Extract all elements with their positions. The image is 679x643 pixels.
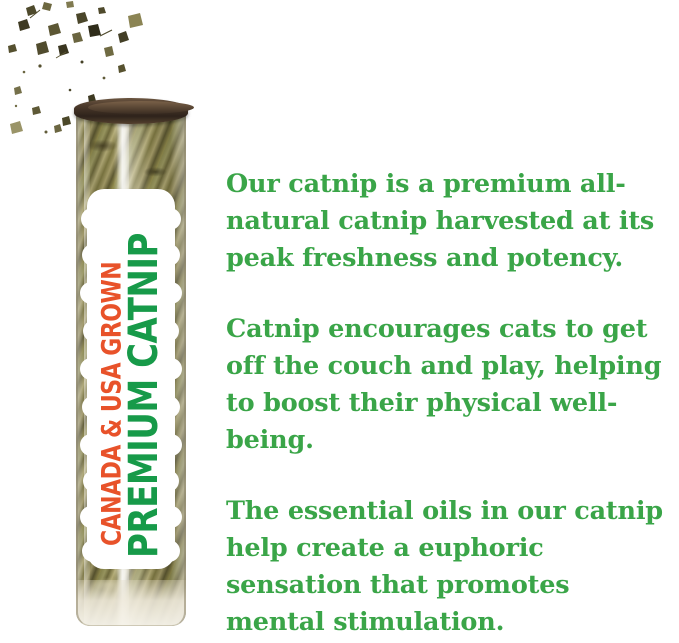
label-sticker: CANADA & USA GROWN PREMIUM CATNIP: [88, 196, 174, 560]
label-product-name: PREMIUM CATNIP: [123, 233, 163, 558]
catnip-tube: CANADA & USA GROWN PREMIUM CATNIP: [64, 92, 196, 637]
product-label: CANADA & USA GROWN PREMIUM CATNIP: [88, 196, 174, 560]
product-marketing-image: CANADA & USA GROWN PREMIUM CATNIP Our ca…: [0, 0, 679, 643]
copy-paragraph-2: Catnip encourages cats to get off the co…: [226, 311, 676, 459]
tube-cap-top: [88, 101, 194, 114]
marketing-copy: Our catnip is a premium all-natural catn…: [226, 166, 676, 641]
tube-cap: [74, 98, 188, 124]
copy-paragraph-1: Our catnip is a premium all-natural catn…: [226, 166, 676, 277]
copy-paragraph-3: The essential oils in our catnip help cr…: [226, 493, 676, 641]
